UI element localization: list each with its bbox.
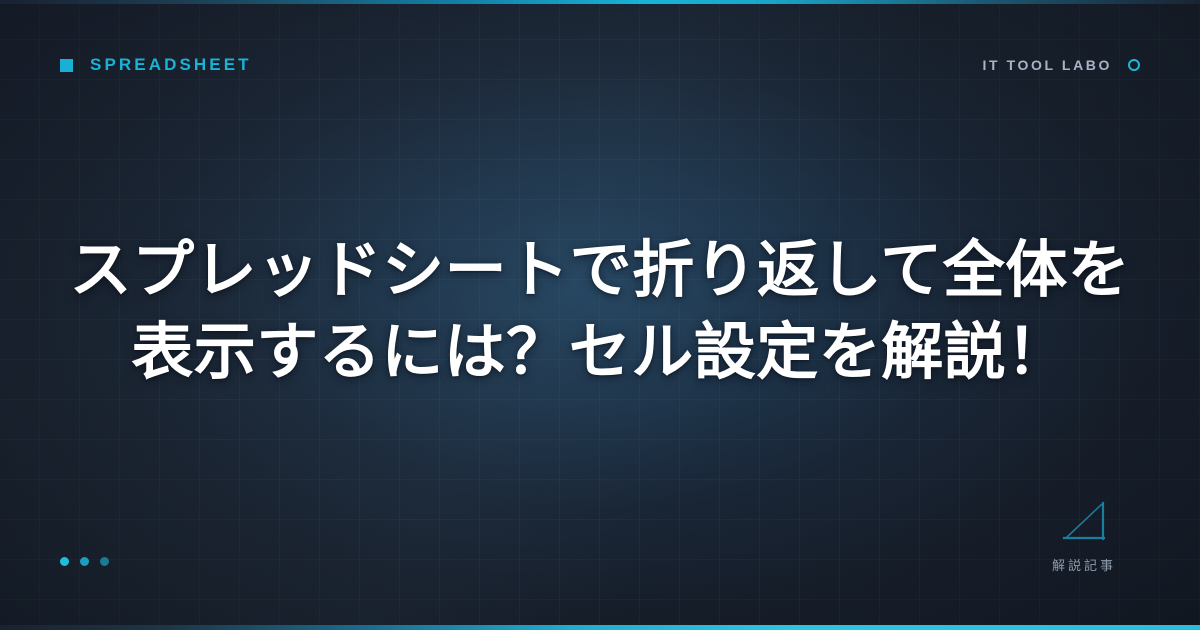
growth-chart-icon — [1062, 501, 1106, 541]
dot-icon-2 — [80, 557, 89, 566]
page-title: スプレッドシートで折り返して全体を 表示するには？セル設定を解説！ — [70, 229, 1131, 394]
og-banner: SPREADSHEET IT TOOL LABO スプレッドシートで折り返して全… — [0, 0, 1200, 630]
dot-icon-3 — [100, 557, 109, 566]
dot-icon-1 — [60, 557, 69, 566]
article-type-label: 解説記事 — [1052, 555, 1116, 574]
article-type-badge: 解説記事 — [1028, 501, 1140, 574]
decorative-dots — [60, 557, 109, 566]
title-area: スプレッドシートで折り返して全体を 表示するには？セル設定を解説！ — [0, 0, 1200, 630]
